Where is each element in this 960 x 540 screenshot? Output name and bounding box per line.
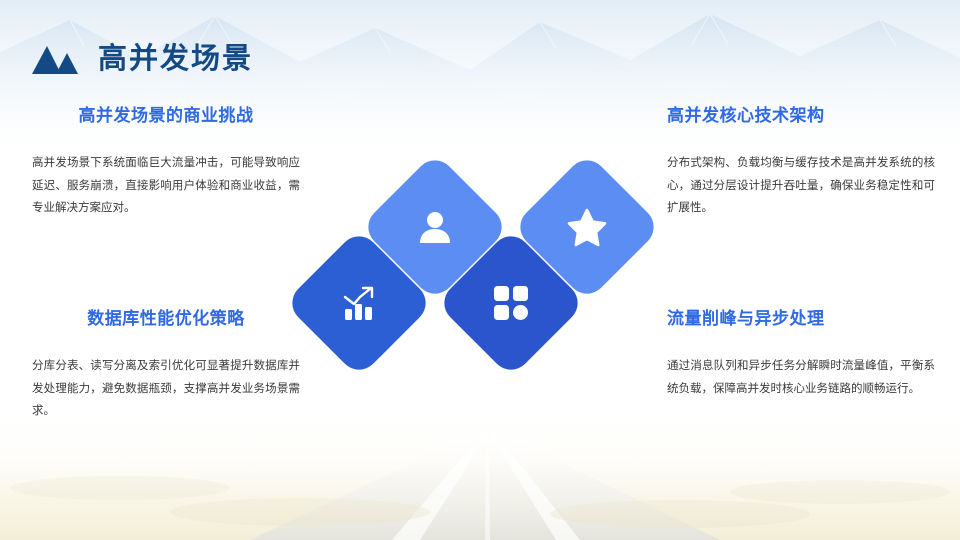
person-icon [415, 207, 455, 247]
growth-chart-icon [339, 283, 379, 323]
slide-header: 高并发场景 [30, 42, 253, 76]
heading-database-optimization: 数据库性能优化策略 [32, 308, 300, 329]
heading-peak-shaving: 流量削峰与异步处理 [667, 308, 935, 329]
grid-icon [491, 283, 531, 323]
diamond-icon-cluster [300, 172, 668, 384]
road-image [0, 410, 960, 540]
text-block-bottom-left: 数据库性能优化策略 分库分表、读写分离及索引优化可显著提升数据库并发处理能力，避… [32, 308, 300, 423]
page-title: 高并发场景 [98, 45, 253, 74]
body-peak-shaving: 通过消息队列和异步任务分解瞬时流量峰值，平衡系统负载，保障高并发时核心业务链路的… [667, 355, 935, 400]
heading-core-architecture: 高并发核心技术架构 [667, 105, 935, 126]
heading-business-challenge: 高并发场景的商业挑战 [32, 105, 300, 126]
body-business-challenge: 高并发场景下系统面临巨大流量冲击，可能导致响应延迟、服务崩溃，直接影响用户体验和… [32, 152, 300, 219]
text-block-bottom-right: 流量削峰与异步处理 通过消息队列和异步任务分解瞬时流量峰值，平衡系统负载，保障高… [667, 308, 935, 400]
text-block-top-left: 高并发场景的商业挑战 高并发场景下系统面临巨大流量冲击，可能导致响应延迟、服务崩… [32, 105, 300, 220]
slide-canvas: 高并发场景 高并发场景的商业挑战 高并发场景下系统面临巨大流量冲击，可能导致响应… [0, 0, 960, 540]
body-database-optimization: 分库分表、读写分离及索引优化可显著提升数据库并发处理能力，避免数据瓶颈，支撑高并… [32, 355, 300, 422]
mountain-logo-icon [30, 42, 80, 76]
star-icon [567, 207, 607, 247]
text-block-top-right: 高并发核心技术架构 分布式架构、负载均衡与缓存技术是高并发系统的核心，通过分层设… [667, 105, 935, 220]
body-core-architecture: 分布式架构、负载均衡与缓存技术是高并发系统的核心，通过分层设计提升吞吐量，确保业… [667, 152, 935, 219]
